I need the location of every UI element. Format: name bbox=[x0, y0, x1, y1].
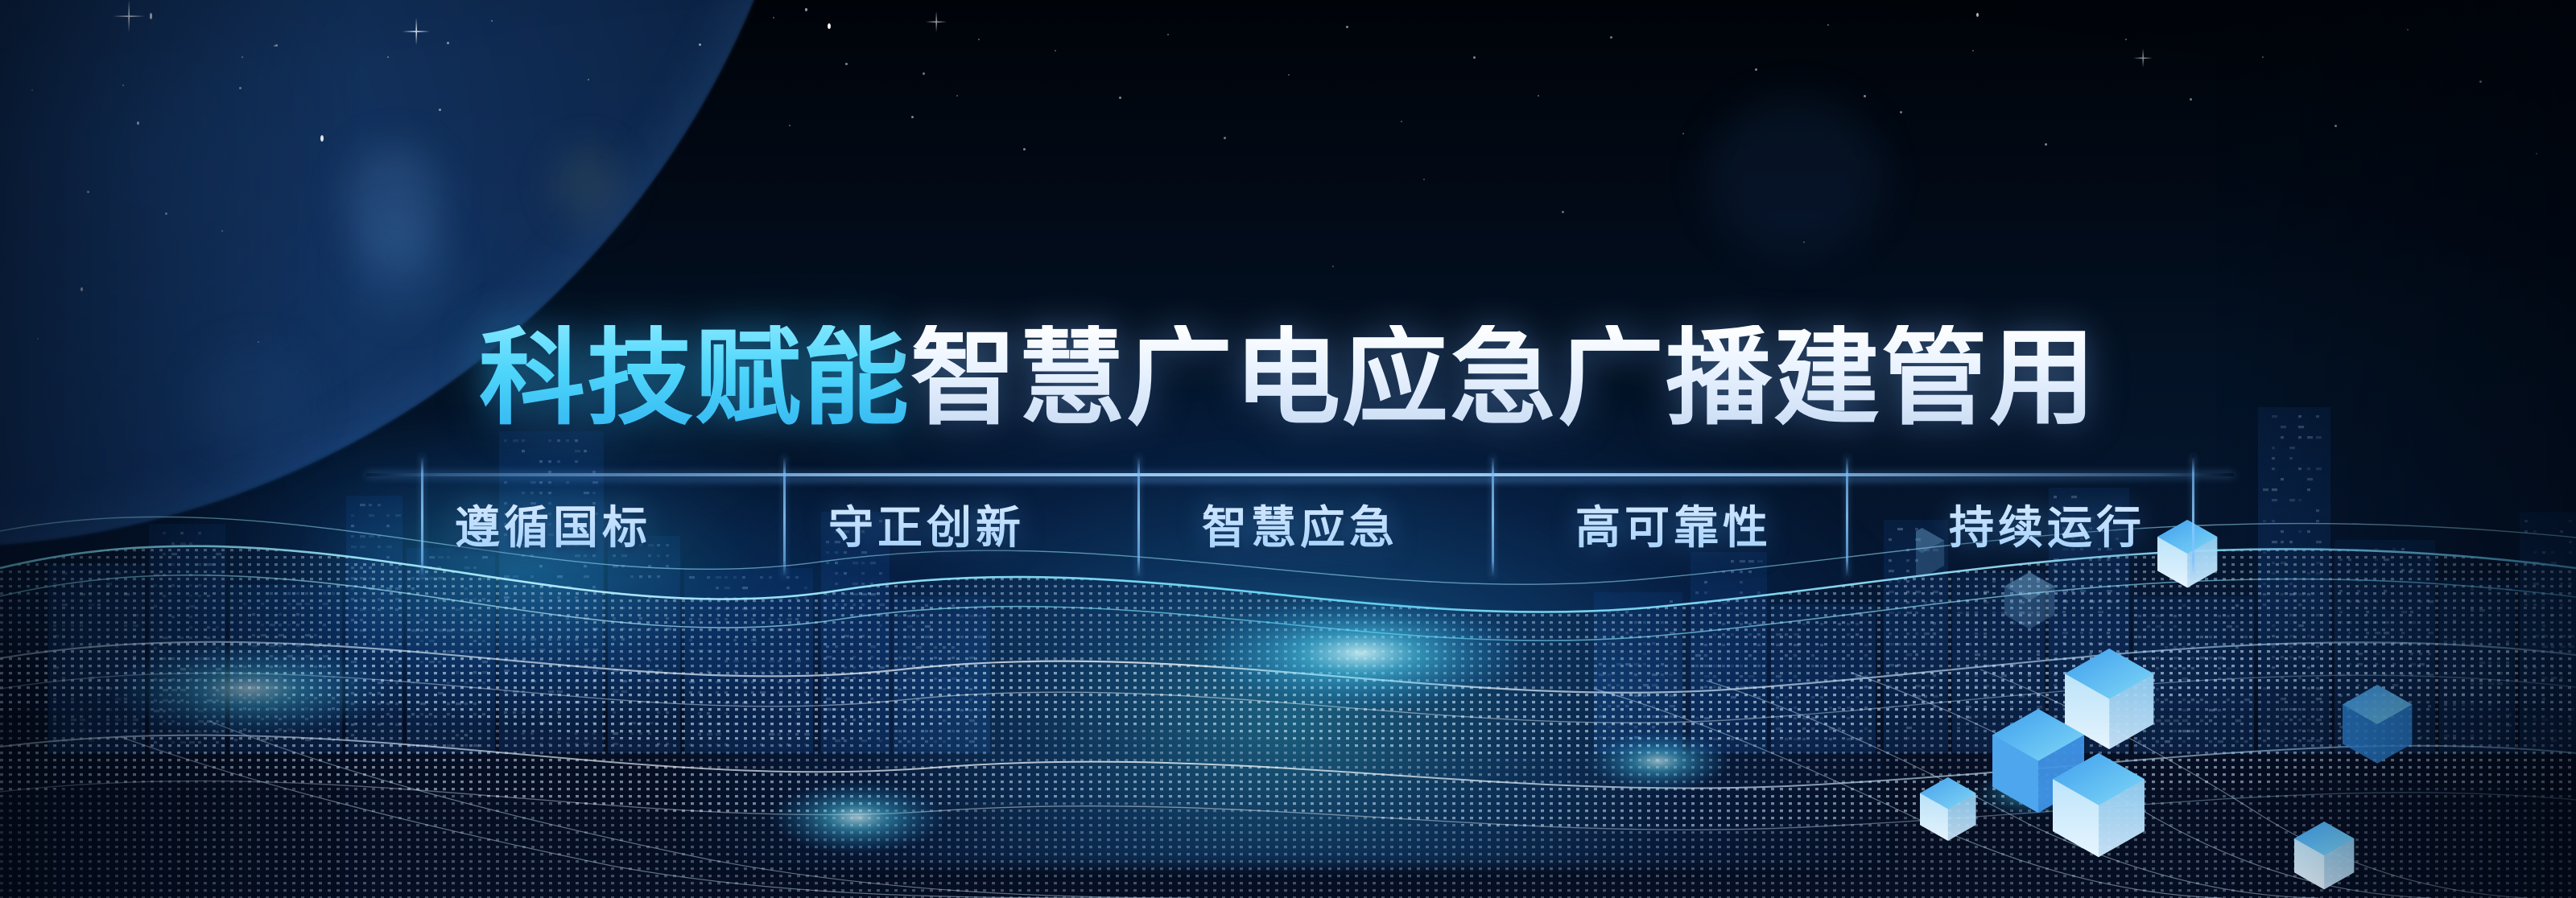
star bbox=[1538, 95, 1539, 97]
star bbox=[439, 109, 441, 111]
feature-item-2[interactable]: 智慧应急 bbox=[1113, 455, 1487, 578]
feature-label: 遵循国标 bbox=[455, 492, 651, 557]
star bbox=[2334, 125, 2337, 127]
feature-item-3[interactable]: 高可靠性 bbox=[1487, 455, 1860, 578]
star bbox=[242, 56, 243, 58]
star bbox=[274, 45, 275, 47]
star bbox=[2190, 98, 2192, 101]
star bbox=[845, 63, 848, 65]
star bbox=[137, 122, 139, 125]
feature-label: 智慧应急 bbox=[1202, 492, 1398, 557]
star bbox=[923, 72, 925, 75]
title-highlight: 科技赋能 bbox=[479, 325, 910, 431]
sparkle-star bbox=[926, 11, 947, 32]
hexagon-cube bbox=[2294, 822, 2354, 889]
tech-banner: 科技赋能智慧广电应急广播建管用 遵循国标 守正创新 智慧应急 高可靠性 持续运行 bbox=[0, 0, 2576, 898]
feature-strip: 遵循国标 守正创新 智慧应急 高可靠性 持续运行 bbox=[366, 455, 2234, 578]
star bbox=[1473, 56, 1476, 59]
star bbox=[2479, 80, 2482, 83]
hexagon-cube bbox=[2004, 572, 2054, 629]
star bbox=[87, 191, 89, 193]
star bbox=[1224, 137, 1226, 139]
star bbox=[2125, 39, 2127, 40]
star bbox=[122, 84, 124, 86]
star bbox=[588, 79, 589, 80]
hexagon-cube bbox=[2343, 685, 2412, 764]
star bbox=[1332, 266, 1334, 267]
star bbox=[1119, 97, 1121, 99]
sparkle-star bbox=[113, 0, 145, 32]
star bbox=[387, 56, 389, 58]
star bbox=[1864, 95, 1866, 97]
star bbox=[491, 20, 493, 22]
star bbox=[1827, 24, 1829, 26]
feature-item-1[interactable]: 守正创新 bbox=[740, 455, 1113, 578]
star bbox=[1167, 34, 1169, 35]
feature-label: 持续运行 bbox=[1949, 492, 2145, 557]
star bbox=[2045, 143, 2047, 146]
star bbox=[699, 43, 701, 46]
sparkle-star bbox=[2133, 48, 2153, 68]
title-rest: 智慧广电应急广播建管用 bbox=[910, 325, 2097, 431]
star bbox=[1401, 121, 1402, 122]
star bbox=[911, 116, 914, 118]
star bbox=[80, 287, 83, 291]
star bbox=[1900, 111, 1902, 113]
star bbox=[320, 135, 324, 142]
star bbox=[31, 89, 33, 91]
star bbox=[221, 230, 223, 232]
star bbox=[805, 8, 807, 11]
star bbox=[1755, 68, 1757, 71]
star bbox=[1288, 74, 1290, 76]
star bbox=[1803, 241, 1805, 243]
star bbox=[1610, 36, 1612, 39]
feature-label: 高可靠性 bbox=[1575, 492, 1772, 557]
star bbox=[1346, 26, 1348, 28]
star bbox=[2536, 153, 2537, 154]
star bbox=[1023, 148, 1026, 150]
star bbox=[1976, 13, 1979, 17]
star bbox=[2262, 56, 2264, 58]
star bbox=[828, 23, 831, 29]
sparkle-star bbox=[402, 18, 430, 45]
star bbox=[165, 212, 167, 215]
star bbox=[978, 39, 980, 40]
star bbox=[956, 95, 958, 97]
feature-items: 遵循国标 守正创新 智慧应急 高可靠性 持续运行 bbox=[366, 455, 2234, 578]
banner-title: 科技赋能智慧广电应急广播建管用 bbox=[0, 325, 2576, 431]
star bbox=[2407, 29, 2409, 31]
star bbox=[1423, 179, 1425, 180]
star bbox=[239, 87, 242, 89]
hexagon-cube bbox=[1920, 777, 1976, 841]
star bbox=[1682, 133, 1684, 134]
star bbox=[789, 125, 791, 126]
star bbox=[1562, 211, 1564, 213]
star bbox=[773, 17, 774, 19]
feature-label: 守正创新 bbox=[828, 492, 1025, 557]
star bbox=[1055, 50, 1056, 51]
star bbox=[447, 42, 449, 44]
star bbox=[150, 13, 152, 19]
feature-item-0[interactable]: 遵循国标 bbox=[366, 455, 740, 578]
star bbox=[1972, 50, 1974, 51]
feature-item-4[interactable]: 持续运行 bbox=[1860, 455, 2234, 578]
star bbox=[275, 44, 278, 47]
